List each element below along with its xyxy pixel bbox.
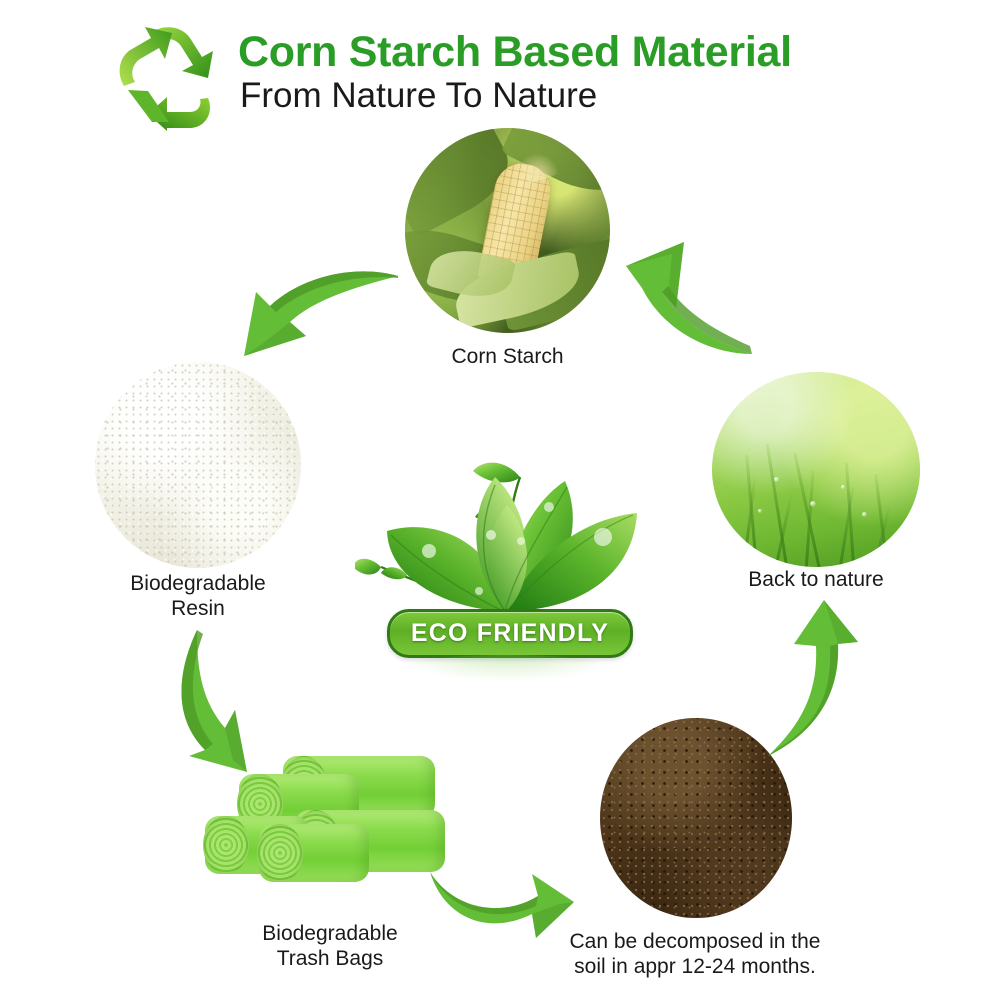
node-back-to-nature — [712, 372, 920, 567]
corn-starch-image — [405, 128, 610, 333]
decomposition-label: Can be decomposed in the soil in appr 12… — [540, 930, 850, 980]
node-corn-starch — [405, 128, 610, 333]
page-subtitle: From Nature To Nature — [240, 76, 597, 116]
node-biodegradable-resin — [95, 362, 301, 568]
eco-friendly-badge-text: ECO FRIENDLY — [411, 619, 609, 648]
arrow-corn-to-resin — [232, 248, 402, 370]
arrow-bags-to-soil — [424, 852, 576, 948]
trash-bag-rolls-image — [205, 752, 455, 912]
recycle-icon — [112, 26, 230, 132]
corn-starch-label: Corn Starch — [380, 345, 635, 370]
eco-friendly-badge-group: ECO FRIENDLY — [355, 415, 655, 680]
back-to-nature-label: Back to nature — [690, 568, 942, 593]
badge-reflection — [399, 655, 615, 681]
eco-friendly-badge: ECO FRIENDLY — [387, 609, 633, 658]
page-title: Corn Starch Based Material — [238, 28, 792, 77]
back-to-nature-image — [712, 372, 920, 567]
header: Corn Starch Based Material From Nature T… — [0, 0, 1000, 140]
arrow-resin-to-bags — [163, 628, 283, 774]
biodegradable-resin-label: Biodegradable Resin — [70, 572, 326, 622]
green-leaves-icon — [355, 415, 655, 625]
infographic-page: Corn Starch Based Material From Nature T… — [0, 0, 1000, 1000]
biodegradable-resin-image — [95, 362, 301, 568]
node-biodegradable-trash-bags — [205, 752, 455, 912]
arrow-nature-to-corn — [618, 236, 783, 368]
arrow-soil-to-nature — [762, 598, 884, 762]
